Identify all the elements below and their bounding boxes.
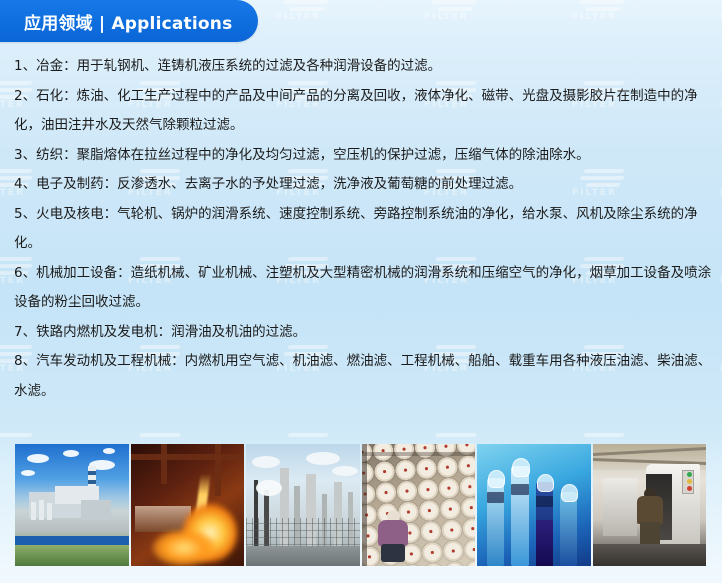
application-item-1: 1、冶金：用于轧钢机、连铸机液压系统的过滤及各种润滑设备的过滤。 <box>0 52 722 82</box>
filter-watermark-icon: FILTER <box>572 0 692 42</box>
steel-furnace-photo <box>131 444 245 566</box>
filter-watermark-icon: FILTER <box>276 0 396 42</box>
filter-watermark-icon: FILTER <box>424 0 544 42</box>
page-title: 应用领域 | Applications <box>24 9 232 34</box>
section-header-pill: 应用领域 | Applications <box>0 0 258 42</box>
filter-watermark-icon: FILTER <box>424 430 544 440</box>
applications-list: 1、冶金：用于轧钢机、连铸机液压系统的过滤及各种润滑设备的过滤。 2、石化：炼油… <box>0 52 722 406</box>
application-item-8: 8、汽车发动机及工程机械：内燃机用空气滤、机油滤、燃油滤、工程机械、船舶、载重车… <box>0 347 722 406</box>
application-item-6: 6、机械加工设备：造纸机械、矿业机械、注塑机及大型精密机械的润滑系统和压缩空气的… <box>0 259 722 318</box>
filter-watermark-icon: FILTER <box>276 430 396 440</box>
power-plant-photo <box>15 444 129 566</box>
application-item-2: 2、石化：炼油、化工生产过程中的产品及中间产品的分离及回收，液体净化、磁带、光盘… <box>0 82 722 141</box>
application-gallery <box>15 444 706 566</box>
filter-watermark-icon: FILTER <box>128 430 248 440</box>
application-item-5: 5、火电及核电：气轮机、锅炉的润滑系统、速度控制系统、旁路控制系统油的净化，给水… <box>0 200 722 259</box>
filter-watermark-icon: FILTER <box>0 430 100 440</box>
lab-glassware-photo <box>477 444 591 566</box>
cnc-machine-photo <box>593 444 707 566</box>
filter-watermark-icon: FILTER <box>572 430 692 440</box>
textile-spools-photo <box>362 444 476 566</box>
applications-page: FILTERFILTERFILTERFILTERFILTERFILTERFILT… <box>0 0 722 583</box>
application-item-3: 3、纺织：聚脂熔体在拉丝过程中的净化及均匀过滤，空压机的保护过滤，压缩气体的除油… <box>0 141 722 171</box>
application-item-4: 4、电子及制药：反渗透水、去离子水的予处理过滤，洗净液及葡萄糖的前处理过滤。 <box>0 170 722 200</box>
refinery-photo <box>246 444 360 566</box>
application-item-7: 7、铁路内燃机及发电机：润滑油及机油的过滤。 <box>0 318 722 348</box>
